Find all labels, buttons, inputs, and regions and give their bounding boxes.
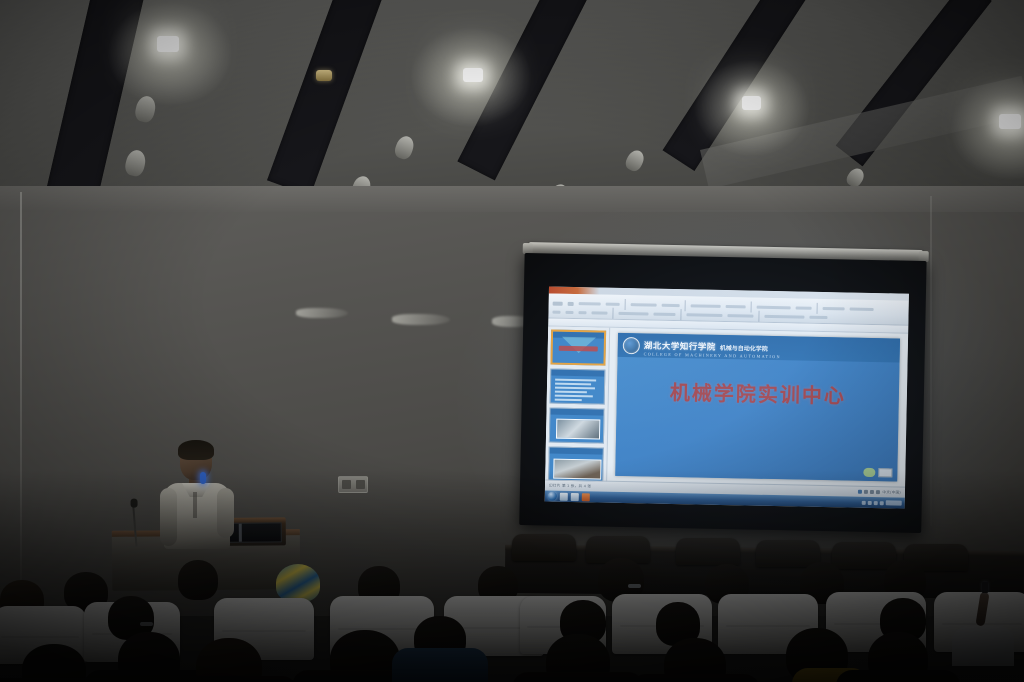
audience-head xyxy=(178,560,218,600)
projection-screen-assembly: 湖北大学知行学院 机械与自动化学院 COLLEGE OF MACHINERY A… xyxy=(519,242,927,535)
thumb-header-bar xyxy=(551,370,604,377)
presenter-right-arm xyxy=(217,488,234,538)
wall-column-edge-left xyxy=(20,192,22,592)
audience-shoulders xyxy=(160,676,298,682)
thumb-title-block xyxy=(559,346,598,352)
thumb-header-bar xyxy=(550,448,603,455)
ceiling-beam-3 xyxy=(457,0,597,180)
ceiling-spotlight-4 xyxy=(999,114,1021,129)
status-view-buttons[interactable]: 中文(中国) xyxy=(858,489,901,495)
eyeglasses xyxy=(628,584,641,588)
thumb-photo-image xyxy=(556,419,600,440)
wall-power-outlet[interactable] xyxy=(338,476,368,493)
wall-column-edge-right xyxy=(930,196,932,526)
handheld-microphone xyxy=(200,472,206,484)
projected-image-surface: 湖北大学知行学院 机械与自动化学院 COLLEGE OF MACHINERY A… xyxy=(545,286,909,508)
fire-sprinkler-head xyxy=(316,70,332,81)
powerpoint-workspace: 湖北大学知行学院 机械与自动化学院 COLLEGE OF MACHINERY A… xyxy=(545,326,908,497)
slide-thumbnail-1[interactable] xyxy=(550,330,606,366)
monitor-bezel-split xyxy=(239,524,242,542)
system-tray[interactable] xyxy=(862,500,902,506)
ceiling-fixture-dim-1 xyxy=(133,94,157,124)
slide-main-title: 机械学院实训中心 xyxy=(617,376,900,411)
audience-shoulders xyxy=(952,626,1014,666)
slide-thumbnail-4[interactable] xyxy=(548,447,604,483)
active-slide-canvas[interactable]: 湖北大学知行学院 机械与自动化学院 COLLEGE OF MACHINERY A… xyxy=(615,333,900,482)
slide-corner-badge xyxy=(863,468,892,478)
audience-shoulders xyxy=(630,674,760,682)
status-slide-counter: 幻灯片 第 1 张，共 4 张 xyxy=(549,483,591,489)
slide-thumbnail-pane[interactable] xyxy=(545,326,610,491)
thumb-text-lines xyxy=(555,379,600,404)
ceiling-fixture-dim-3 xyxy=(393,134,417,161)
badge-square-icon xyxy=(878,468,892,477)
start-button-orb[interactable] xyxy=(548,492,557,501)
audience-shoulders xyxy=(392,648,488,682)
screen-black-border: 湖北大学知行学院 机械与自动化学院 COLLEGE OF MACHINERY A… xyxy=(519,253,926,533)
taskbar-browser-icon[interactable] xyxy=(560,492,568,500)
smartphone xyxy=(982,582,988,593)
taskbar-clock xyxy=(886,500,902,505)
status-language: 中文(中国) xyxy=(882,490,901,495)
presenter-hair xyxy=(178,440,214,460)
badge-round-icon xyxy=(863,468,875,477)
university-seal-logo xyxy=(623,336,640,353)
presenter-shirt-placket xyxy=(193,492,197,518)
eyeglasses xyxy=(140,622,153,626)
ceiling-fixture-dim-2 xyxy=(123,148,147,178)
wall-scuff-2 xyxy=(392,314,450,325)
ceiling-spotlight-1 xyxy=(157,36,179,52)
taskbar-explorer-icon[interactable] xyxy=(571,492,579,500)
ceiling-fixture-dim-5 xyxy=(623,148,647,174)
thumb-header-bar xyxy=(550,409,603,416)
slide-department-name: 机械与自动化学院 xyxy=(720,342,768,352)
audience-seating xyxy=(0,540,1024,682)
presenter-left-arm xyxy=(160,488,177,546)
presenter-person xyxy=(160,442,232,554)
wall-scuff-1 xyxy=(296,308,348,318)
microphone-head xyxy=(131,499,138,508)
ceiling-spotlight-3 xyxy=(742,96,761,110)
audience-head-with-cap xyxy=(276,564,320,602)
slide-thumbnail-2[interactable] xyxy=(550,369,606,405)
wall-upper-band xyxy=(0,186,1024,212)
audience-shoulders xyxy=(512,672,644,682)
lecture-hall-photo: 湖北大学知行学院 机械与自动化学院 COLLEGE OF MACHINERY A… xyxy=(0,0,1024,682)
ceiling-spotlight-2 xyxy=(463,68,483,82)
audience-shoulders xyxy=(836,670,960,682)
taskbar-powerpoint-icon[interactable] xyxy=(582,493,590,501)
thumb-photo-image xyxy=(553,459,601,480)
slide-thumbnail-3[interactable] xyxy=(549,408,605,444)
audience-shoulders xyxy=(0,678,118,682)
ceiling-beam-2 xyxy=(267,0,388,196)
